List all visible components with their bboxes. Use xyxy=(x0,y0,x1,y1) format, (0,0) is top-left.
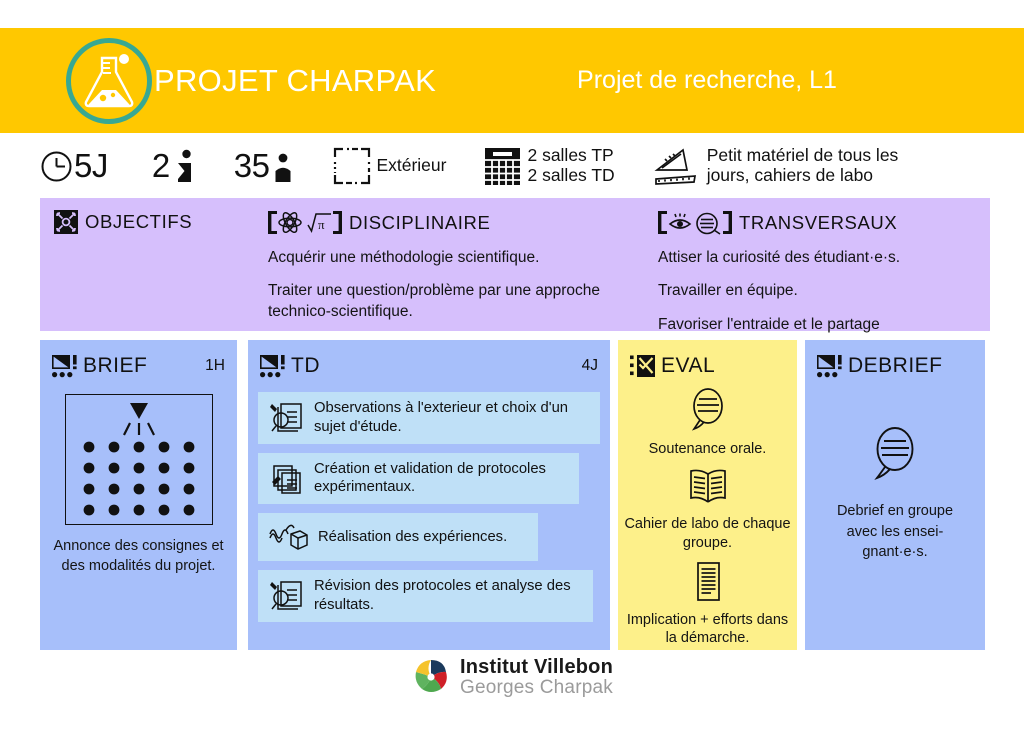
document-lines-icon xyxy=(692,561,724,603)
card-brief-caption: Annonce des consignes et des modalités d… xyxy=(40,537,237,576)
card-brief: BRIEF 1H Annonce des consignes xyxy=(40,340,237,650)
objectifs-transversaux: TRANSVERSAUX Attiser la curiosité des ét… xyxy=(658,210,988,335)
card-brief-title: BRIEF xyxy=(83,354,147,378)
documents-magnifier-pen-icon xyxy=(268,578,304,614)
calendar-grid-icon xyxy=(484,147,521,186)
td-task-item[interactable]: Révision des protocoles et analyse des r… xyxy=(258,570,593,622)
presentation-dots-icon xyxy=(817,354,843,378)
footer-line-2: Georges Charpak xyxy=(460,678,613,698)
info-item-teachers: 2 xyxy=(152,147,194,185)
disciplinaire-heading: DISCIPLINAIRE xyxy=(349,212,490,234)
eye-document-bracket-icon xyxy=(658,210,732,235)
page-title: PROJET CHARPAK xyxy=(154,63,436,99)
td-task-list: Observations à l'exterieur et choix d'un… xyxy=(248,392,610,622)
stacked-documents-pen-icon xyxy=(268,460,304,496)
disciplinaire-line-1: Acquérir une méthodologie scientifique. xyxy=(268,248,628,268)
card-debrief-title: DEBRIEF xyxy=(848,354,943,378)
institut-villebon-pinwheel-icon xyxy=(411,657,451,697)
td-task-item[interactable]: Création et validation de protocoles exp… xyxy=(258,453,579,505)
footer-logo: Institut Villebon Georges Charpak xyxy=(0,657,1024,698)
info-item-duration: 5J xyxy=(40,147,108,185)
eval-item-list: Soutenance orale. xyxy=(618,386,797,648)
footer-line-1: Institut Villebon xyxy=(460,657,613,678)
spring-cube-experiment-icon xyxy=(268,520,308,554)
card-td-duration: 4J xyxy=(582,357,598,375)
duration-value: 5J xyxy=(74,147,108,185)
disciplinaire-line-2: Traiter une question/problème par une ap… xyxy=(268,281,628,322)
speaker-audience-grid-diagram xyxy=(65,394,213,525)
transversaux-line-2: Travailler en équipe. xyxy=(658,281,988,301)
flask-in-circle-icon xyxy=(66,38,152,124)
card-eval: EVAL Soutenance orale. xyxy=(618,340,797,650)
rooms-line-1: 2 salles TP xyxy=(527,146,614,166)
card-td-title: TD xyxy=(291,354,320,378)
student-icon xyxy=(273,149,293,183)
debrief-text: Debrief en groupe avec les ensei-gnant·e… xyxy=(805,501,985,563)
info-item-students: 35 xyxy=(234,147,294,185)
presentation-dots-icon xyxy=(52,354,78,378)
eval-item-text: Cahier de labo de chaque groupe. xyxy=(618,515,797,553)
rooms-line-2: 2 salles TD xyxy=(527,166,614,186)
dashed-frame-icon xyxy=(333,147,371,185)
card-debrief: DEBRIEF Debrief en groupe avec les ensei… xyxy=(805,340,985,650)
objectifs-panel: OBJECTIFS xyxy=(40,198,990,331)
transversaux-heading: TRANSVERSAUX xyxy=(739,212,897,234)
speech-bubble-lines-icon xyxy=(866,424,924,482)
transversaux-line-1: Attiser la curiosité des étudiant·e·s. xyxy=(658,248,988,268)
info-item-location: Extérieur xyxy=(333,147,446,185)
card-eval-title: EVAL xyxy=(661,354,715,378)
svg-text:π: π xyxy=(318,217,325,232)
material-line-2: jours, cahiers de labo xyxy=(707,166,899,186)
info-item-rooms: 2 salles TP 2 salles TD xyxy=(484,146,614,185)
material-line-1: Petit matériel de tous les xyxy=(707,146,899,166)
td-task-text: Réalisation des expériences. xyxy=(318,528,507,547)
infographic-page: PROJET CHARPAK Projet de recherche, L1 5… xyxy=(0,0,1024,735)
presentation-dots-icon xyxy=(260,354,286,378)
td-task-item[interactable]: Réalisation des expériences. xyxy=(258,513,538,561)
teacher-icon xyxy=(174,149,194,183)
td-task-text: Observations à l'exterieur et choix d'un… xyxy=(314,399,590,437)
td-task-item[interactable]: Observations à l'exterieur et choix d'un… xyxy=(258,392,600,444)
eval-item-text: Implication + efforts dans la démarche. xyxy=(618,611,797,649)
objectifs-disciplinaire: π DISCIPLINAIRE Acquérir une méthodologi… xyxy=(268,210,628,322)
students-value: 35 xyxy=(234,147,270,185)
td-task-text: Révision des protocoles et analyse des r… xyxy=(314,577,583,615)
eval-item: Implication + efforts dans la démarche. xyxy=(618,561,797,649)
eval-item: Cahier de labo de chaque groupe. xyxy=(618,467,797,553)
checklist-icon xyxy=(630,354,656,378)
td-task-text: Création et validation de protocoles exp… xyxy=(314,460,569,498)
speech-bubble-lines-icon xyxy=(685,386,731,432)
transversaux-line-3: Favoriser l'entraide et le partage xyxy=(658,315,988,335)
debrief-body: Debrief en groupe avec les ensei-gnant·e… xyxy=(805,424,985,563)
eval-item: Soutenance orale. xyxy=(618,386,797,459)
eval-item-text: Soutenance orale. xyxy=(618,440,797,459)
clock-icon xyxy=(40,150,73,183)
card-td: TD 4J xyxy=(248,340,610,650)
header-banner: PROJET CHARPAK Projet de recherche, L1 xyxy=(0,28,1024,133)
info-bar: 5J 2 35 xyxy=(40,140,990,192)
location-label: Extérieur xyxy=(376,156,446,176)
ruler-set-square-icon xyxy=(653,146,701,186)
documents-magnifier-pen-icon xyxy=(268,400,304,436)
target-arrows-icon xyxy=(54,210,78,234)
card-brief-duration: 1H xyxy=(205,357,225,375)
info-item-material: Petit matériel de tous les jours, cahier… xyxy=(653,146,899,186)
teachers-value: 2 xyxy=(152,147,170,185)
atom-sqrt-pi-bracket-icon: π xyxy=(268,210,342,235)
objectifs-heading: OBJECTIFS xyxy=(85,211,192,233)
open-book-icon xyxy=(683,467,733,507)
